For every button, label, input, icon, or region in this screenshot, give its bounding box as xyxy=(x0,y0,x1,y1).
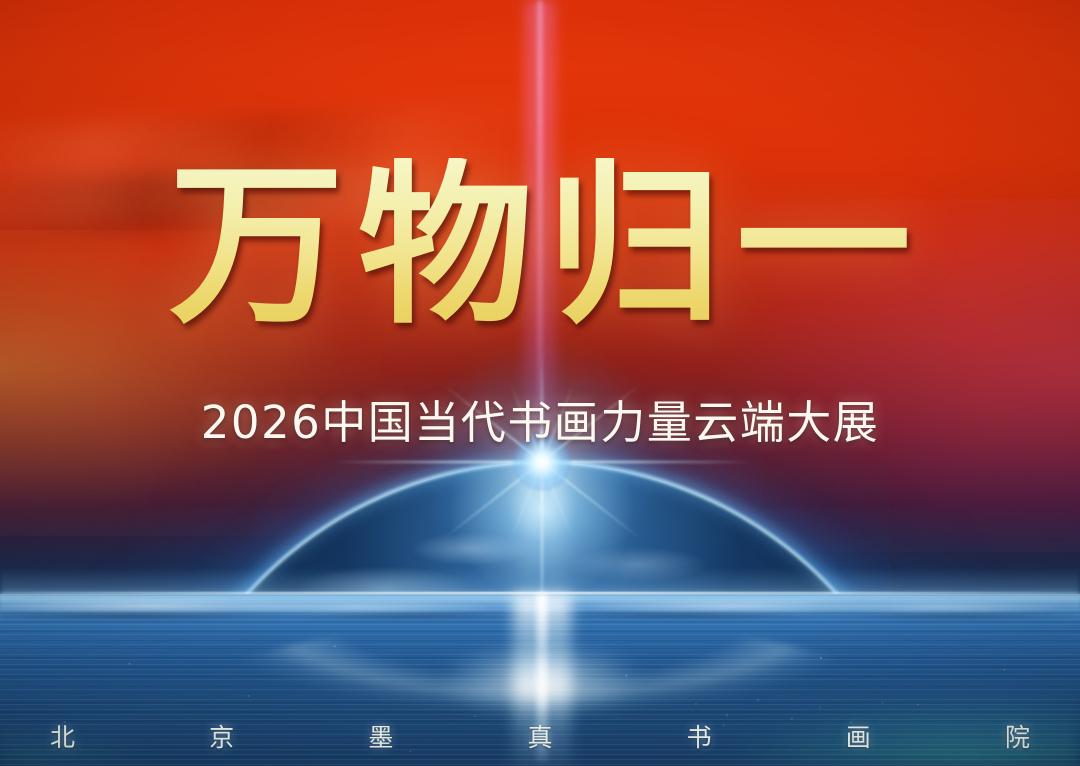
poster-subtitle: 2026中国当代书画力量云端大展 xyxy=(0,400,1080,445)
organizer-char-2: 京 xyxy=(209,718,234,754)
organizer-char-4: 真 xyxy=(527,718,552,754)
organizer-char-5: 书 xyxy=(687,718,712,754)
organizer-footer: 北 京 墨 真 书 画 院 xyxy=(50,718,1030,754)
organizer-char-7: 院 xyxy=(1005,718,1030,754)
organizer-char-1: 北 xyxy=(50,718,75,754)
organizer-char-3: 墨 xyxy=(368,718,393,754)
poster-main-title: 万物归一 xyxy=(0,158,1080,333)
water-reflection-pool xyxy=(447,648,637,712)
organizer-char-6: 画 xyxy=(846,718,871,754)
poster-canvas: 万物归一 2026中国当代书画力量云端大展 北 京 墨 真 书 画 院 xyxy=(0,0,1080,766)
